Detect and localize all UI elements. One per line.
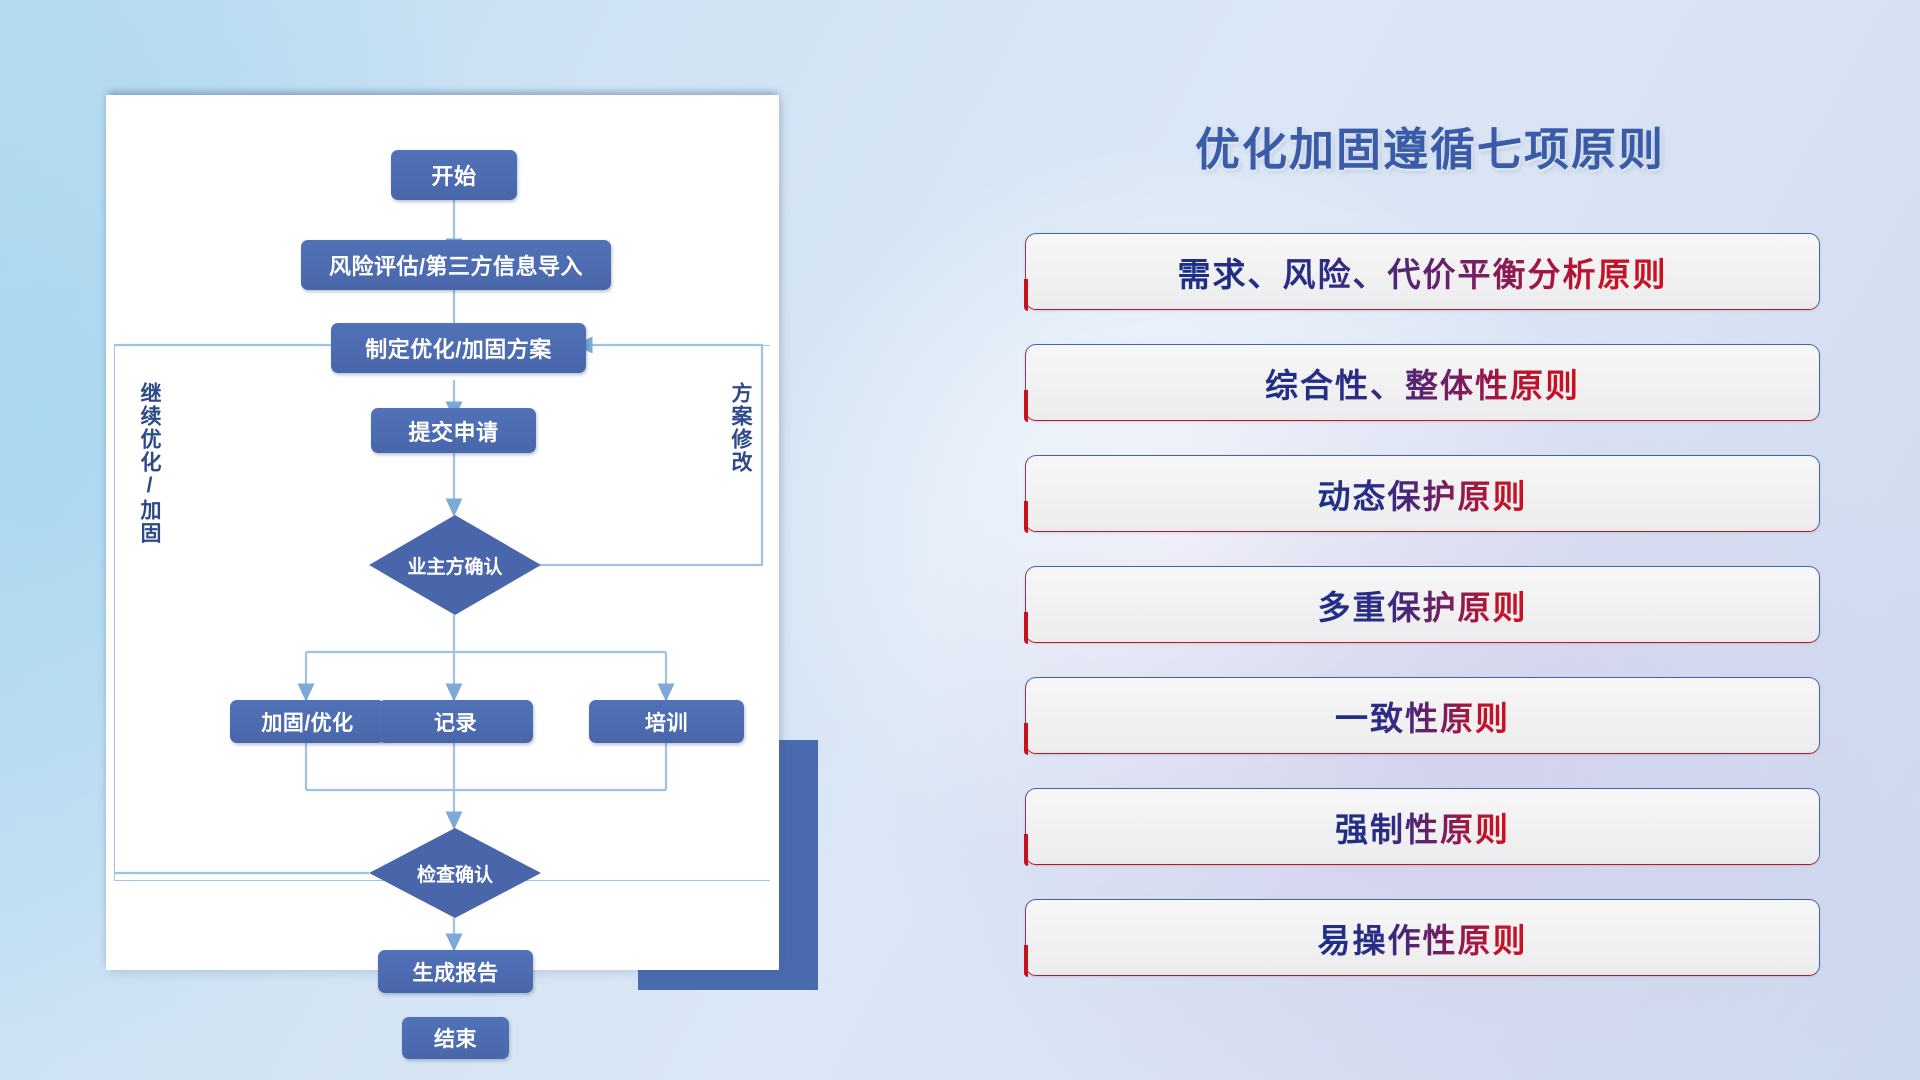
principle-label: 动态保护原则 [1318, 470, 1528, 518]
principle-card[interactable]: 一致性原则 [1025, 677, 1820, 754]
principle-card[interactable]: 强制性原则 [1025, 788, 1820, 865]
principle-label: 一致性原则 [1335, 692, 1510, 740]
flow-node-label: 生成报告 [413, 957, 499, 987]
flow-node-submit[interactable]: 提交申请 [371, 408, 536, 453]
flow-node-report[interactable]: 生成报告 [378, 950, 533, 993]
flow-node-label: 开始 [431, 159, 476, 191]
principle-label: 强制性原则 [1335, 803, 1510, 851]
flow-node-label: 提交申请 [408, 415, 498, 447]
flow-node-label: 记录 [434, 707, 477, 737]
flow-node-label: 检查确认 [417, 860, 493, 887]
principle-card[interactable]: 多重保护原则 [1025, 566, 1820, 643]
principle-card[interactable]: 需求、风险、代价平衡分析原则 [1025, 233, 1820, 310]
flow-node-label: 风险评估/第三方信息导入 [329, 249, 583, 281]
principles-title: 优化加固遵循七项原则 [1020, 113, 1840, 178]
principle-card[interactable]: 动态保护原则 [1025, 455, 1820, 532]
principles-panel: 优化加固遵循七项原则 需求、风险、代价平衡分析原则 综合性、整体性原则 动态保护… [1020, 95, 1840, 995]
flowchart-panel: 开始 风险评估/第三方信息导入 制定优化/加固方案 提交申请 业主方确认 加固/… [106, 95, 779, 970]
flow-edge-label-plan-revision: 方案修改 [725, 382, 755, 474]
flow-node-end[interactable]: 结束 [402, 1017, 509, 1059]
flow-node-training[interactable]: 培训 [589, 700, 744, 743]
flow-node-label: 制定优化/加固方案 [365, 332, 552, 364]
flow-node-risk-assessment[interactable]: 风险评估/第三方信息导入 [301, 240, 611, 290]
principle-card[interactable]: 综合性、整体性原则 [1025, 344, 1820, 421]
principle-card[interactable]: 易操作性原则 [1025, 899, 1820, 976]
principle-label: 综合性、整体性原则 [1265, 359, 1580, 407]
flow-node-reinforce[interactable]: 加固/优化 [230, 700, 385, 743]
flow-node-label: 培训 [645, 707, 688, 737]
principle-label: 多重保护原则 [1318, 581, 1528, 629]
principle-label: 易操作性原则 [1318, 914, 1528, 962]
flow-node-label: 结束 [434, 1023, 477, 1053]
flow-node-plan[interactable]: 制定优化/加固方案 [331, 323, 586, 373]
flow-edge-label-continue-optimize: 继续优化/加固 [134, 382, 164, 545]
flow-node-start[interactable]: 开始 [391, 150, 517, 200]
flow-node-record[interactable]: 记录 [378, 700, 533, 743]
principle-label: 需求、风险、代价平衡分析原则 [1178, 248, 1668, 296]
flow-node-label: 加固/优化 [261, 707, 353, 737]
principles-list: 需求、风险、代价平衡分析原则 综合性、整体性原则 动态保护原则 多重保护原则 一… [1025, 233, 1820, 1010]
flow-node-label: 业主方确认 [407, 552, 502, 579]
slide-canvas: 开始 风险评估/第三方信息导入 制定优化/加固方案 提交申请 业主方确认 加固/… [0, 0, 1920, 1080]
